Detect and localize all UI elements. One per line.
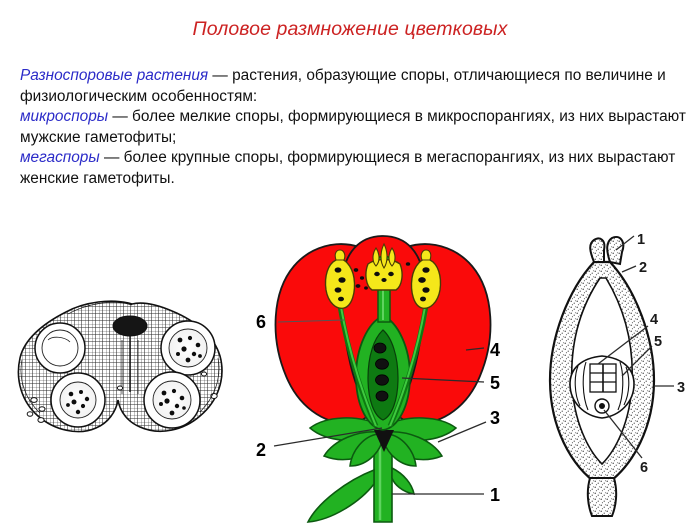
funiculus [588,478,616,516]
term-microspores: микроспоры [20,108,108,125]
term-heterosporous-plants: Разноспоровые растения [20,67,208,84]
flower-diagram-drawing: 6 4 5 2 3 1 [252,230,514,525]
anther-lobe-left [373,248,379,266]
pollen-sac-upper-right [161,321,215,375]
ovule-diagram-figure: 1 2 4 5 3 6 [516,234,700,519]
definition-paragraph: мегаспоры — более крупные споры, формиру… [20,148,692,189]
term-megaspores: мегаспоры [20,149,100,166]
ovule-label-5: 5 [654,334,662,350]
flower-label-3: 3 [490,408,500,428]
anther-tip [335,250,345,260]
ovule-diagram-drawing: 1 2 4 5 3 6 [516,234,700,519]
stem-leaf-right [392,468,414,494]
flower-label-5: 5 [490,373,500,393]
flower-label-1: 1 [490,485,500,505]
definition-body: — более крупные споры, формирующиеся в м… [20,149,675,187]
ovule-label-2: 2 [639,260,647,276]
definition-body: — более мелкие споры, формирующиеся в ми… [20,108,686,146]
pollen-sac-lower-right [144,372,200,428]
anther-tip [421,250,431,260]
micropyle-lobe-right [607,237,623,264]
anther-lobe-right [389,248,395,266]
pollen-sac-upper-left [35,323,85,373]
egg-nucleus [599,403,605,409]
ovule-label-4: 4 [650,312,658,328]
vascular-bundle [113,316,147,336]
flower-label-4: 4 [490,340,500,360]
flower-label-6: 6 [256,312,266,332]
slide-root: Половое размножение цветковых Разноспоро… [0,0,700,525]
micropyle-lobe-left [590,238,604,262]
anther-cross-section-figure [8,296,258,456]
flower-diagram-figure: 6 4 5 2 3 1 [252,230,514,525]
ovule-label-6: 6 [640,460,648,476]
page-title: Половое размножение цветковых [0,18,700,41]
figure-row: 6 4 5 2 3 1 [0,228,700,525]
flower-label-2: 2 [256,440,266,460]
pollen-sac-lower-left [51,373,105,427]
definition-paragraph: микроспоры — более мелкие споры, формиру… [20,107,692,148]
anther-cross-section-drawing [8,296,258,456]
ovule-label-3: 3 [677,380,685,396]
definition-paragraph: Разноспоровые растения — растения, образ… [20,66,692,107]
leader-2 [622,266,636,272]
stem [374,444,392,522]
stem-leaf-left [308,470,374,522]
ovule-label-1: 1 [637,234,645,248]
definition-text-block: Разноспоровые растения — растения, образ… [20,66,692,189]
